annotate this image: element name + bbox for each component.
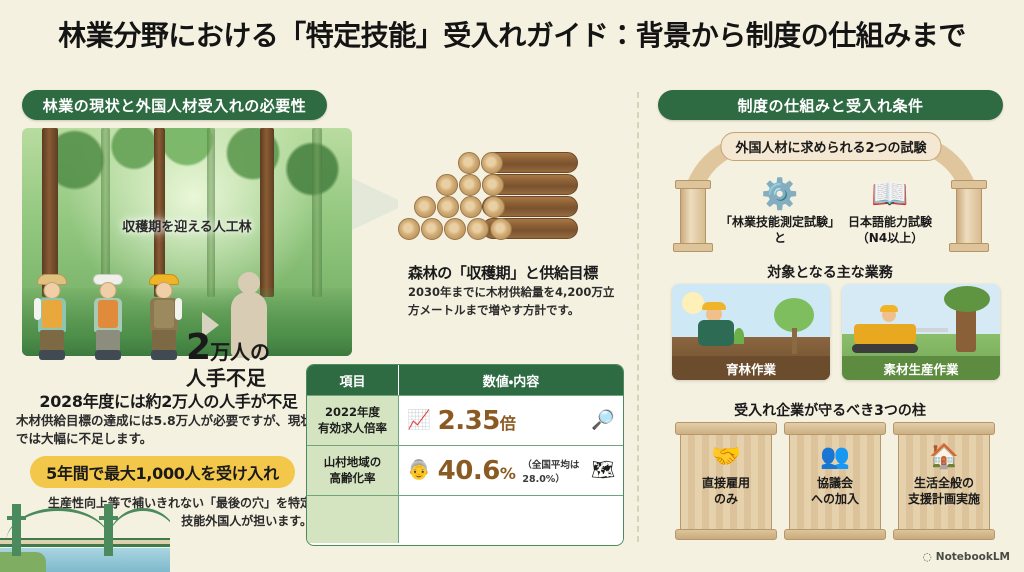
exam-label: 「林業技能測定試験」と (720, 215, 840, 246)
watermark-label: NotebookLM (936, 551, 1010, 563)
table-header-item: 項目 (307, 365, 399, 395)
pillar-item: 👥 協議会への加入 (789, 422, 881, 540)
shortage-unit: 万人の (210, 340, 270, 364)
group-people-icon: 👥 (789, 444, 881, 468)
map-pin-icon: 🗺 (591, 461, 615, 480)
shortage-stat: 2万人の 人手不足 (186, 330, 326, 388)
exam-requirements-arch: 外国人材に求められる2つの試験 ⚙️ 「林業技能測定試験」と 📖 日本語能力試験… (672, 128, 990, 252)
pillar-item: 🏠 生活全般の支援計画実施 (898, 422, 990, 540)
job-card-label: 育林作業 (672, 356, 830, 380)
bridge-illustration (0, 504, 170, 572)
exam-label: 日本語能力試験（N4以上） (830, 215, 950, 246)
page-title: 林業分野における「特定技能」受入れガイド：背景から制度の仕組みまで (0, 14, 1024, 54)
open-book-flag-icon: 📖 (830, 180, 950, 210)
stats-table: 項目 数値・内容 2022年度有効求人倍率 📈 2.35倍 🔎 山村地域の高齢化… (306, 364, 624, 546)
table-cell-item (307, 496, 399, 543)
notebooklm-logo-icon: ◌ (923, 551, 932, 563)
job-card: 育林作業 (672, 284, 830, 380)
table-cell-item: 2022年度有効求人倍率 (307, 396, 399, 445)
table-cell-item: 山村地域の高齢化率 (307, 446, 399, 495)
forest-magnifier-icon: 🔎 (591, 411, 615, 430)
pillar-label: 生活全般の支援計画実施 (898, 476, 990, 508)
infographic-page: 林業分野における「特定技能」受入れガイド：背景から制度の仕組みまで 林業の現状と… (0, 0, 1024, 572)
shortage-lead-line: 2028年度には約2万人の人手が不足 (16, 388, 321, 412)
pillar-label: 協議会への加入 (789, 476, 881, 508)
table-header-value: 数値・内容 (399, 365, 623, 395)
house-heart-icon: 🏠 (898, 444, 990, 468)
job-card: 素材生産作業 (842, 284, 1000, 380)
table-cell-value: 👵 40.6% （全国平均は28.0%） 🗺 (399, 446, 623, 495)
supply-target-heading: 森林の「収穫期」と供給目標 (408, 262, 623, 283)
shortage-number: 2 (186, 327, 210, 368)
exam-item: ⚙️ 「林業技能測定試験」と (720, 180, 840, 246)
log-pile-illustration (398, 146, 578, 256)
gear-leaf-icon: ⚙️ (720, 180, 840, 210)
table-row: 山村地域の高齢化率 👵 40.6% （全国平均は28.0%） 🗺 (307, 445, 623, 495)
pillars-heading: 受入れ企業が守るべき3つの柱 (660, 400, 1000, 420)
pillar-label: 直接雇用のみ (680, 476, 772, 508)
jobs-heading: 対象となる主な業務 (660, 262, 1000, 282)
table-cell-value (399, 496, 623, 543)
table-value-number: 40.6% (438, 456, 516, 486)
shortage-body-text: 木材供給目標の達成には5.8万人が必要ですが、現状では大幅に不足します。 (16, 412, 316, 448)
column-divider (637, 92, 639, 542)
table-value-number: 2.35倍 (438, 406, 516, 436)
table-header-row: 項目 数値・内容 (307, 365, 623, 395)
bar-chart-up-icon: 📈 (407, 411, 431, 430)
shortage-sublabel: 人手不足 (186, 368, 326, 388)
elderly-person-icon: 👵 (407, 461, 431, 480)
forestry-workers-illustration (28, 272, 198, 360)
handshake-icon: 🤝 (680, 444, 772, 468)
table-row: 2022年度有効求人倍率 📈 2.35倍 🔎 (307, 395, 623, 445)
table-value-note: （全国平均は28.0%） (522, 457, 584, 485)
pillar-item: 🤝 直接雇用のみ (680, 422, 772, 540)
supply-target-body: 2030年までに木材供給量を4,200万立方メートルまで増やす方計です。 (408, 284, 623, 320)
flow-arrow-icon (352, 178, 398, 230)
arch-label: 外国人材に求められる2つの試験 (720, 132, 941, 161)
table-row (307, 495, 623, 543)
job-card-label: 素材生産作業 (842, 356, 1000, 380)
section-header-left: 林業の現状と外国人材受入れの必要性 (22, 90, 327, 120)
acceptance-cap-badge: 5年間で最大1,000人を受け入れ (30, 456, 295, 488)
exam-item: 📖 日本語能力試験（N4以上） (830, 180, 950, 246)
forest-photo-caption: 収穫期を迎える人工林 (22, 216, 352, 235)
table-cell-value: 📈 2.35倍 🔎 (399, 396, 623, 445)
section-header-right: 制度の仕組みと受入れ条件 (658, 90, 1003, 120)
notebooklm-watermark: ◌ NotebookLM (923, 551, 1010, 563)
